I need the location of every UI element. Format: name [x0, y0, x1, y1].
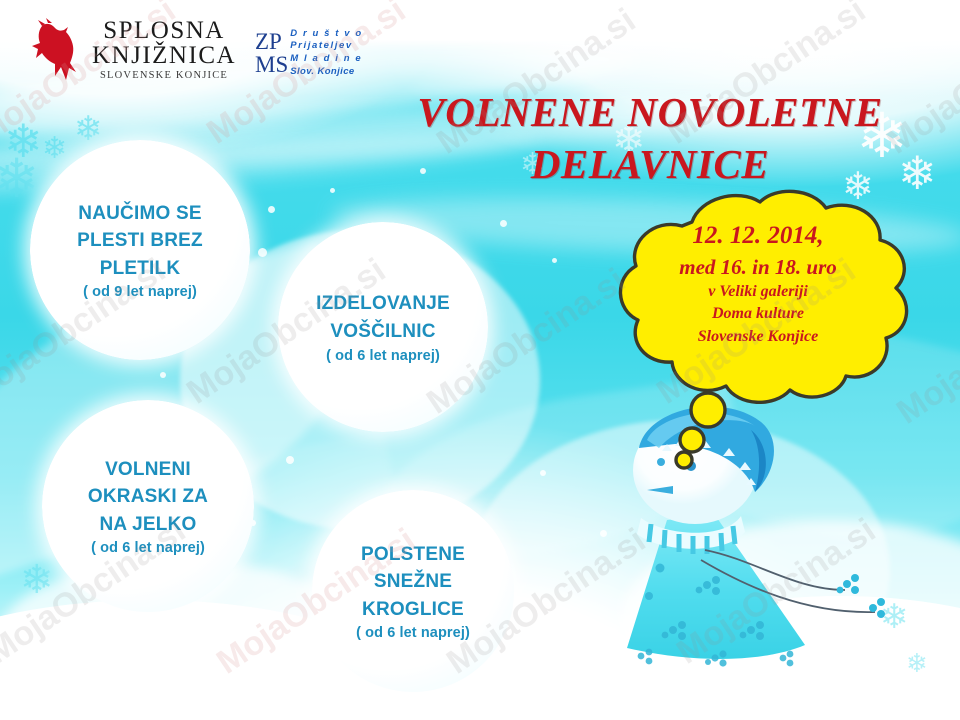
workshop-1-line2: PLESTI BREZ: [77, 227, 203, 255]
workshop-1-line1: NAUČIMO SE: [78, 200, 201, 228]
event-venue-line1: v Veliki galeriji: [588, 281, 928, 304]
sparkle-dot: [500, 220, 507, 227]
sparkle-dot: [160, 372, 166, 378]
snowball: [653, 666, 673, 686]
snowflake-icon: ❄: [906, 650, 928, 676]
sparkle-dot: [540, 470, 546, 476]
workshop-4-age-note: ( od 6 let naprej): [356, 625, 470, 641]
event-date: 12. 12. 2014,: [588, 220, 928, 253]
workshop-4-line3: KROGLICE: [362, 596, 464, 624]
workshop-3-line1: VOLNENI: [105, 456, 191, 484]
poster-canvas: ❄ ❄ ❄ ❄ ❄ ❄ ❄ ❄ ❄ ❄ ❄ ❄ SPLOSNA KNJIŽNIC…: [0, 0, 960, 720]
workshop-2-age-note: ( od 6 let naprej): [326, 348, 440, 364]
snowflake-icon: ❄: [0, 152, 39, 206]
sparkle-dot: [552, 258, 557, 263]
dpm-logo-mark-line1: ZP: [255, 30, 288, 53]
workshop-3-line2: OKRASKI ZA: [88, 483, 208, 511]
sparkle-dot: [268, 206, 275, 213]
snowflake-icon: [869, 598, 885, 618]
snowball: [716, 671, 734, 689]
snowflake-icon: ❄: [42, 134, 67, 164]
snowflake-icon: ❄: [74, 112, 103, 146]
workshop-2-line2: VOŠČILNIC: [330, 318, 435, 346]
snowflake-icon: [837, 574, 859, 594]
sparkle-dot: [330, 188, 335, 193]
snowball: [599, 627, 621, 649]
event-time: med 16. in 18. uro: [588, 253, 928, 281]
sparkle-dot: [286, 456, 294, 464]
library-logo-line3: SLOVENSKE KONJICE: [100, 70, 228, 81]
sparkle-dot: [258, 248, 267, 257]
